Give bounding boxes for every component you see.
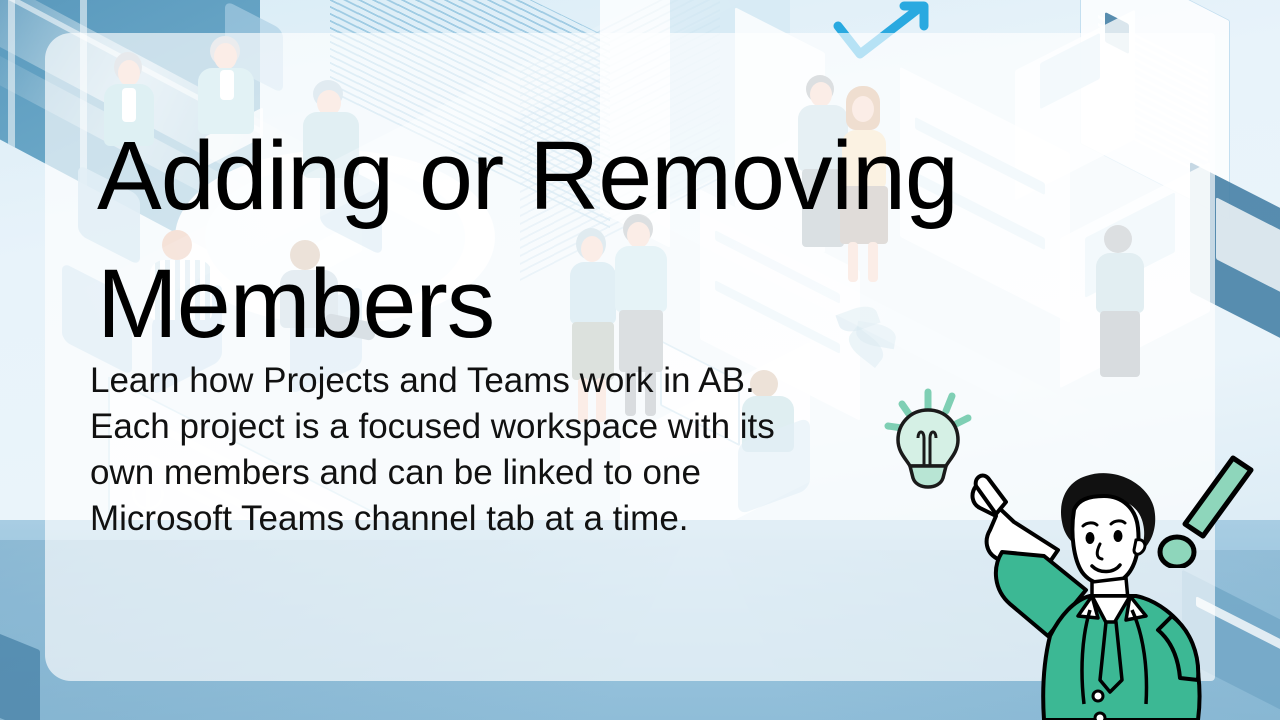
- body-paragraph: Learn how Projects and Teams work in AB.…: [90, 358, 850, 542]
- page-title: Adding or Removing Members: [97, 112, 1107, 368]
- presentation-slide: Adding or Removing Members Learn how Pro…: [0, 0, 1280, 720]
- businessman-pointing-character: [940, 440, 1280, 720]
